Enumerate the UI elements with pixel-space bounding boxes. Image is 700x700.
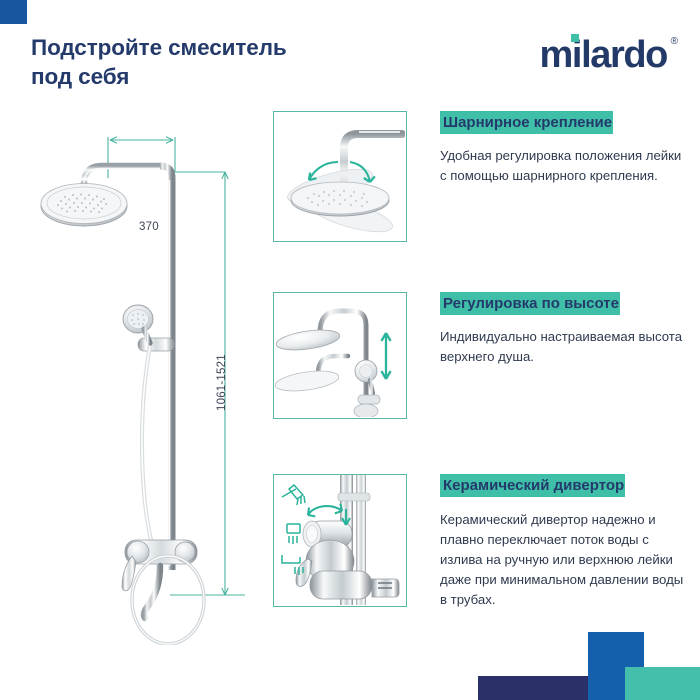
feature-body-diverter: Керамический дивертор надежно и плавно п…	[440, 510, 690, 610]
mode-icons	[282, 485, 305, 575]
feature-image-swivel	[273, 111, 407, 242]
width-dimension-label: 370	[139, 221, 159, 233]
feature-heading-diverter: Керамический дивертор	[440, 474, 625, 497]
page-title: Подстройте смеситель под себя	[31, 33, 361, 92]
infographic-canvas: Подстройте смеситель под себя milardo ®	[0, 0, 700, 700]
shower-head-lower	[274, 368, 340, 395]
feature-text-height: Регулировка по высоте Индивидуально наст…	[440, 292, 690, 367]
feature-heading-row: Регулировка по высоте	[440, 292, 690, 316]
page-title-line-2: под себя	[31, 62, 361, 91]
page-title-line-1: Подстройте смеситель	[31, 33, 361, 62]
feature-body-swivel: Удобная регулировка положения лейки с по…	[440, 146, 690, 186]
product-photo-with-dimensions: 370 1061-1521	[20, 100, 265, 645]
feature-heading-height: Регулировка по высоте	[440, 292, 620, 315]
feature-text-diverter: Керамический дивертор Керамический дивер…	[440, 474, 690, 610]
hand-shower	[123, 305, 153, 343]
feature-text-swivel: Шарнирное крепление Удобная регулировка …	[440, 111, 690, 186]
shower-head-upper	[275, 327, 341, 354]
feature-heading-row: Керамический дивертор	[440, 474, 690, 498]
corner-accent-bottom-teal	[625, 667, 700, 700]
height-arrow	[381, 333, 390, 379]
logo-dot-accent	[571, 34, 579, 42]
brand-logo: milardo ®	[540, 36, 667, 74]
feature-heading-row: Шарнирное крепление	[440, 111, 690, 135]
feature-image-diverter	[273, 474, 407, 607]
registered-trademark-symbol: ®	[671, 37, 678, 47]
feature-body-height: Индивидуально настраиваемая высота верхн…	[440, 327, 690, 367]
spout	[144, 566, 160, 618]
slider-bracket	[138, 338, 174, 351]
feature-heading-swivel: Шарнирное крепление	[440, 111, 613, 134]
brand-logo-text: milardo	[540, 34, 667, 76]
height-dimension-label: 1061-1521	[216, 354, 228, 411]
shower-column-illustration	[20, 100, 265, 645]
feature-image-height	[273, 292, 407, 419]
corner-accent-top-left	[0, 0, 27, 24]
